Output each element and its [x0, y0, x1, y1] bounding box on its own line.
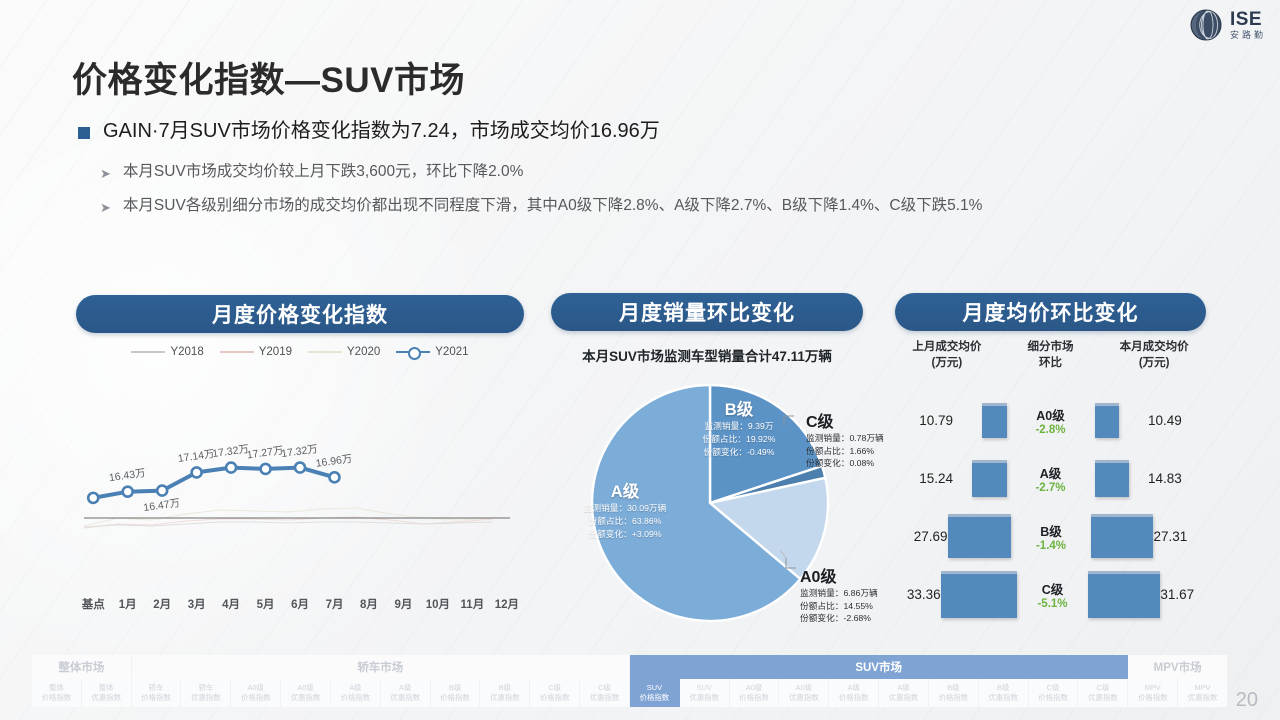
nav-item-line1: MPV: [1195, 683, 1211, 693]
svg-text:17.32万: 17.32万: [281, 443, 319, 460]
nav-item-MPV-价格指数[interactable]: MPV价格指数: [1128, 679, 1178, 707]
legend-swatch: [396, 351, 430, 353]
pie-label-b: B级 监测销量：9.39万 份额占比：19.92% 份额变化：-0.49%: [684, 396, 794, 459]
bar-current: [1085, 514, 1153, 558]
nav-item-line2: 价格指数: [42, 693, 72, 703]
nav-group-label: MPV市场: [1128, 655, 1228, 679]
legend-item-y2018: Y2018: [131, 346, 203, 358]
nav-item-SUV-价格指数[interactable]: SUV价格指数: [630, 679, 680, 707]
bar-prev: [941, 571, 1023, 618]
line-chart-legend: Y2018 Y2019 Y2020 Y2021: [76, 346, 524, 358]
bar-panel: 上月成交均价 (万元) 细分市场 环比 本月成交均价 (万元) 10.79A0级…: [895, 340, 1206, 630]
svg-text:16.43万: 16.43万: [108, 467, 146, 484]
nav-item-轿车-优惠指数[interactable]: 轿车优惠指数: [181, 679, 231, 707]
x-axis-label: 8月: [352, 596, 386, 612]
bar-value-prev: 33.36: [895, 587, 941, 602]
pie-slice-sales: 监测销量：9.39万: [684, 420, 794, 433]
bar-current: [1089, 403, 1149, 438]
nav-item-line1: B级: [997, 683, 1009, 693]
x-axis-label: 7月: [317, 596, 351, 612]
bar-current: [1082, 571, 1160, 618]
nav-item-line2: 价格指数: [1138, 693, 1168, 703]
legend-label: Y2020: [347, 346, 380, 358]
nav-group-label: 整体市场: [32, 655, 132, 679]
pie-slice-share: 份额占比：19.92%: [684, 433, 794, 446]
nav-item-line2: 优惠指数: [291, 693, 321, 703]
nav-item-line2: 优惠指数: [390, 693, 420, 703]
segment-change: -1.4%: [1017, 540, 1086, 552]
nav-item-line1: A0级: [297, 683, 313, 693]
nav-item-B级-价格指数[interactable]: B级价格指数: [431, 679, 481, 707]
legend-label: Y2018: [170, 346, 203, 358]
nav-group-SUV市场[interactable]: SUV市场SUV价格指数SUV优惠指数A0级价格指数A0级优惠指数A级价格指数A…: [630, 655, 1128, 707]
line-chart: Y2018 Y2019 Y2020 Y2021 16.43万16.47万17.1…: [76, 338, 524, 628]
bar-value-current: 14.83: [1148, 471, 1206, 486]
nav-item-line2: 价格指数: [739, 693, 769, 703]
nav-item-A0级-价格指数[interactable]: A0级价格指数: [730, 679, 780, 707]
panel-title-line-chart: 月度价格变化指数: [76, 295, 524, 333]
nav-item-line2: 优惠指数: [590, 693, 620, 703]
nav-item-line1: B级: [449, 683, 461, 693]
nav-item-line1: A级: [399, 683, 411, 693]
legend-swatch: [220, 351, 254, 353]
nav-group-label: 轿车市场: [132, 655, 630, 679]
x-axis-label: 12月: [490, 596, 524, 612]
nav-group-MPV市场[interactable]: MPV市场MPV价格指数MPV优惠指数: [1128, 655, 1228, 707]
nav-item-line1: 整体: [49, 683, 64, 693]
nav-item-整体-价格指数[interactable]: 整体价格指数: [32, 679, 82, 707]
pie-slice-change: 份额变化：+3.09%: [565, 528, 685, 541]
nav-item-line1: C级: [1047, 683, 1060, 693]
legend-label: Y2019: [259, 346, 292, 358]
nav-item-line2: 优惠指数: [1088, 693, 1118, 703]
square-bullet-icon: [78, 127, 90, 139]
panel-title-bar-chart: 月度均价环比变化: [895, 293, 1206, 331]
nav-item-line1: C级: [1096, 683, 1109, 693]
pie-label-a: A级 监测销量：30.09万辆 份额占比：63.86% 份额变化：+3.09%: [565, 478, 685, 541]
nav-item-line2: 优惠指数: [789, 693, 819, 703]
segment-name: A0级: [1013, 405, 1089, 424]
x-axis-label: 1月: [110, 596, 144, 612]
nav-item-line2: 价格指数: [141, 693, 171, 703]
legend-item-y2020: Y2020: [308, 346, 380, 358]
logo-name: ISE: [1230, 10, 1266, 29]
bar-prev: [948, 514, 1017, 558]
x-axis-label: 10月: [421, 596, 455, 612]
page-title: 价格变化指数—SUV市场: [72, 52, 465, 103]
x-axis-label: 5月: [248, 596, 282, 612]
bar-prev: [953, 460, 1013, 497]
nav-item-line1: 轿车: [199, 683, 214, 693]
pie-slice-sales: 监测销量：30.09万辆: [565, 502, 685, 515]
brand-logo: ISE 安路勤: [1189, 8, 1266, 42]
nav-item-line2: 价格指数: [241, 693, 271, 703]
nav-item-C级-价格指数[interactable]: C级价格指数: [530, 679, 580, 707]
main-bullet: GAIN·7月SUV市场价格变化指数为7.24，市场成交均价16.96万: [78, 119, 660, 144]
nav-item-line2: 价格指数: [1038, 693, 1068, 703]
bar-segment-label: C级-5.1%: [1023, 579, 1083, 610]
pie-leader-lines: [780, 400, 860, 630]
sub-bullet-1: ➤ 本月SUV市场成交均价较上月下跌3,600元，环比下降2.0%: [100, 162, 523, 182]
nav-item-line2: 优惠指数: [490, 693, 520, 703]
bar-segment-label: B级-1.4%: [1017, 521, 1086, 552]
nav-item-C级-价格指数[interactable]: C级价格指数: [1029, 679, 1079, 707]
bar-value-prev: 10.79: [895, 413, 953, 428]
x-axis-label: 2月: [145, 596, 179, 612]
nav-item-line1: SUV: [697, 683, 712, 693]
svg-text:17.14万: 17.14万: [177, 448, 215, 465]
nav-item-line2: 价格指数: [540, 693, 570, 703]
nav-item-C级-优惠指数[interactable]: C级优惠指数: [1078, 679, 1128, 707]
bar-row: 33.36C级-5.1%31.67: [895, 566, 1206, 622]
svg-text:17.32万: 17.32万: [212, 443, 250, 460]
arrow-bullet-icon: ➤: [100, 166, 111, 182]
arrow-bullet-icon: ➤: [100, 200, 111, 216]
sub-bullet-2-text: 本月SUV各级别细分市场的成交均价都出现不同程度下滑，其中A0级下降2.8%、A…: [123, 196, 983, 216]
nav-item-line1: A0级: [248, 683, 264, 693]
nav-item-A0级-优惠指数[interactable]: A0级优惠指数: [779, 679, 829, 707]
bar-segment-label: A0级-2.8%: [1013, 405, 1089, 436]
nav-item-SUV-优惠指数[interactable]: SUV优惠指数: [680, 679, 730, 707]
bar-segment-label: A级-2.7%: [1013, 463, 1089, 494]
slide: ISE 安路勤 价格变化指数—SUV市场 GAIN·7月SUV市场价格变化指数为…: [0, 0, 1280, 720]
nav-item-line1: 轿车: [149, 683, 164, 693]
legend-swatch: [131, 351, 165, 353]
col-header-prev: 上月成交均价 (万元): [895, 340, 999, 371]
pie-slice-share: 份额占比：63.86%: [565, 515, 685, 528]
panel-title-pie-chart: 月度销量环比变化: [551, 293, 863, 331]
nav-item-line1: B级: [499, 683, 511, 693]
svg-text:17.27万: 17.27万: [246, 444, 284, 461]
nav-item-A级-价格指数[interactable]: A级价格指数: [331, 679, 381, 707]
legend-item-y2019: Y2019: [220, 346, 292, 358]
nav-item-line2: 优惠指数: [689, 693, 719, 703]
nav-item-line2: 优惠指数: [191, 693, 221, 703]
nav-item-line2: 优惠指数: [889, 693, 919, 703]
segment-name: B级: [1017, 521, 1086, 540]
pie-slice-name: B级: [684, 396, 794, 420]
bar-panel-header: 上月成交均价 (万元) 细分市场 环比 本月成交均价 (万元): [895, 340, 1206, 371]
main-bullet-text: GAIN·7月SUV市场价格变化指数为7.24，市场成交均价16.96万: [103, 119, 660, 144]
nav-item-line1: C级: [548, 683, 561, 693]
nav-item-MPV-优惠指数[interactable]: MPV优惠指数: [1178, 679, 1228, 707]
bar-row: 27.69B级-1.4%27.31: [895, 508, 1206, 564]
segment-change: -2.7%: [1013, 482, 1089, 494]
nav-item-C级-优惠指数[interactable]: C级优惠指数: [580, 679, 630, 707]
nav-item-line1: A级: [897, 683, 909, 693]
bar-row: 15.24A级-2.7%14.83: [895, 450, 1206, 506]
nav-item-line2: 价格指数: [440, 693, 470, 703]
bar-row: 10.79A0级-2.8%10.49: [895, 392, 1206, 448]
page-number: 20: [1236, 689, 1258, 712]
x-axis-label: 11月: [455, 596, 489, 612]
sub-bullet-1-text: 本月SUV市场成交均价较上月下跌3,600元，环比下降2.0%: [123, 162, 524, 182]
nav-item-A级-优惠指数[interactable]: A级优惠指数: [879, 679, 929, 707]
nav-item-A级-价格指数[interactable]: A级价格指数: [829, 679, 879, 707]
nav-item-整体-优惠指数[interactable]: 整体优惠指数: [82, 679, 132, 707]
nav-group-label: SUV市场: [630, 655, 1128, 679]
bar-value-prev: 15.24: [895, 471, 953, 486]
nav-item-A0级-优惠指数[interactable]: A0级优惠指数: [281, 679, 331, 707]
nav-item-line1: C级: [598, 683, 611, 693]
x-axis-label: 3月: [179, 596, 213, 612]
nav-item-line2: 价格指数: [839, 693, 869, 703]
pie-chart-subtitle: 本月SUV市场监测车型销量合计47.11万辆: [551, 345, 863, 365]
col-header-current: 本月成交均价 (万元): [1102, 340, 1206, 371]
nav-group-轿车市场[interactable]: 轿车市场轿车价格指数轿车优惠指数A0级价格指数A0级优惠指数A级价格指数A级优惠…: [132, 655, 630, 707]
nav-item-line2: 价格指数: [640, 693, 670, 703]
bar-value-current: 10.49: [1148, 413, 1206, 428]
logo-subname: 安路勤: [1230, 31, 1266, 40]
nav-item-line1: A级: [848, 683, 860, 693]
segment-name: C级: [1023, 579, 1083, 598]
nav-item-line1: A0级: [796, 683, 812, 693]
nav-item-B级-优惠指数[interactable]: B级优惠指数: [480, 679, 530, 707]
nav-item-line1: MPV: [1145, 683, 1161, 693]
nav-item-B级-价格指数[interactable]: B级价格指数: [929, 679, 979, 707]
x-axis-label: 6月: [283, 596, 317, 612]
nav-item-line1: B级: [947, 683, 959, 693]
line-chart-x-axis: 基点1月2月3月4月5月6月7月8月9月10月11月12月: [76, 596, 524, 612]
nav-item-轿车-价格指数[interactable]: 轿车价格指数: [132, 679, 182, 707]
bar-value-prev: 27.69: [895, 529, 948, 544]
segment-name: A级: [1013, 463, 1089, 482]
nav-item-line1: SUV: [647, 683, 662, 693]
line-chart-plot: 16.43万16.47万17.14万17.32万17.27万17.32万16.9…: [76, 368, 524, 598]
nav-item-B级-优惠指数[interactable]: B级优惠指数: [979, 679, 1029, 707]
pie-slice-name: A级: [565, 478, 685, 502]
x-axis-label: 基点: [76, 596, 110, 612]
sub-bullet-2: ➤ 本月SUV各级别细分市场的成交均价都出现不同程度下滑，其中A0级下降2.8%…: [100, 196, 982, 216]
nav-group-整体市场[interactable]: 整体市场整体价格指数整体优惠指数: [32, 655, 132, 707]
globe-icon: [1189, 8, 1223, 42]
bottom-navigation[interactable]: 整体市场整体价格指数整体优惠指数轿车市场轿车价格指数轿车优惠指数A0级价格指数A…: [32, 655, 1228, 707]
nav-item-line2: 优惠指数: [988, 693, 1018, 703]
nav-item-line2: 价格指数: [341, 693, 371, 703]
bar-value-current: 27.31: [1153, 529, 1206, 544]
nav-item-line2: 价格指数: [939, 693, 969, 703]
bar-current: [1089, 460, 1149, 497]
x-axis-label: 4月: [214, 596, 248, 612]
svg-text:16.47万: 16.47万: [143, 497, 181, 514]
segment-change: -5.1%: [1023, 598, 1083, 610]
legend-swatch: [308, 351, 342, 353]
nav-item-line1: A0级: [746, 683, 762, 693]
nav-item-A级-优惠指数[interactable]: A级优惠指数: [381, 679, 431, 707]
pie-slice-change: 份额变化：-0.49%: [684, 446, 794, 459]
x-axis-label: 9月: [386, 596, 420, 612]
legend-label: Y2021: [435, 346, 468, 358]
bar-prev: [953, 403, 1013, 438]
svg-text:16.96万: 16.96万: [315, 453, 353, 470]
col-header-segment: 细分市场 环比: [999, 340, 1103, 371]
nav-item-line1: 整体: [99, 683, 114, 693]
nav-item-line2: 优惠指数: [91, 693, 121, 703]
bar-value-current: 31.67: [1160, 587, 1206, 602]
nav-item-line1: A级: [349, 683, 361, 693]
nav-item-A0级-价格指数[interactable]: A0级价格指数: [231, 679, 281, 707]
nav-item-line2: 优惠指数: [1188, 693, 1218, 703]
legend-item-y2021: Y2021: [396, 346, 468, 358]
segment-change: -2.8%: [1013, 424, 1089, 436]
